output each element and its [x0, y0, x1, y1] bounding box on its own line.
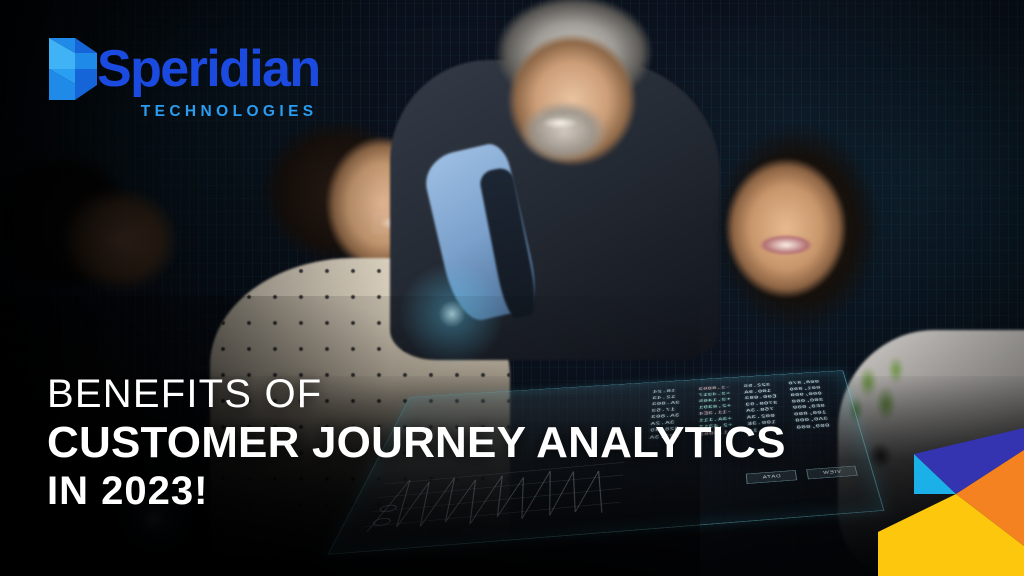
person-woman-dark-hair-face	[718, 148, 860, 308]
headline-line-2: CUSTOMER JOURNEY ANALYTICS	[47, 418, 786, 468]
logo-wordmark: Speridian	[97, 44, 320, 95]
headline-block: BENEFITS OF CUSTOMER JOURNEY ANALYTICS I…	[47, 372, 786, 514]
speridian-s-chevron-icon	[47, 36, 101, 102]
marketing-banner: 008,870 322.55 -1.8863 18.24 001,890 100…	[0, 0, 1024, 576]
person-man-beard	[508, 92, 620, 172]
ticker-cell: 009,000	[796, 422, 845, 430]
brand-logo[interactable]: Speridian TECHNOLOGIES	[47, 36, 320, 121]
headline-line-1: BENEFITS OF	[47, 372, 786, 417]
headline-line-3: IN 2023!	[47, 469, 786, 514]
person-man-smile	[536, 114, 584, 132]
logo-row: Speridian	[47, 36, 320, 102]
geometric-corner-accent	[878, 428, 1024, 576]
logo-tagline: TECHNOLOGIES	[141, 103, 318, 121]
person-woman-dark-hair-smile	[756, 232, 818, 258]
